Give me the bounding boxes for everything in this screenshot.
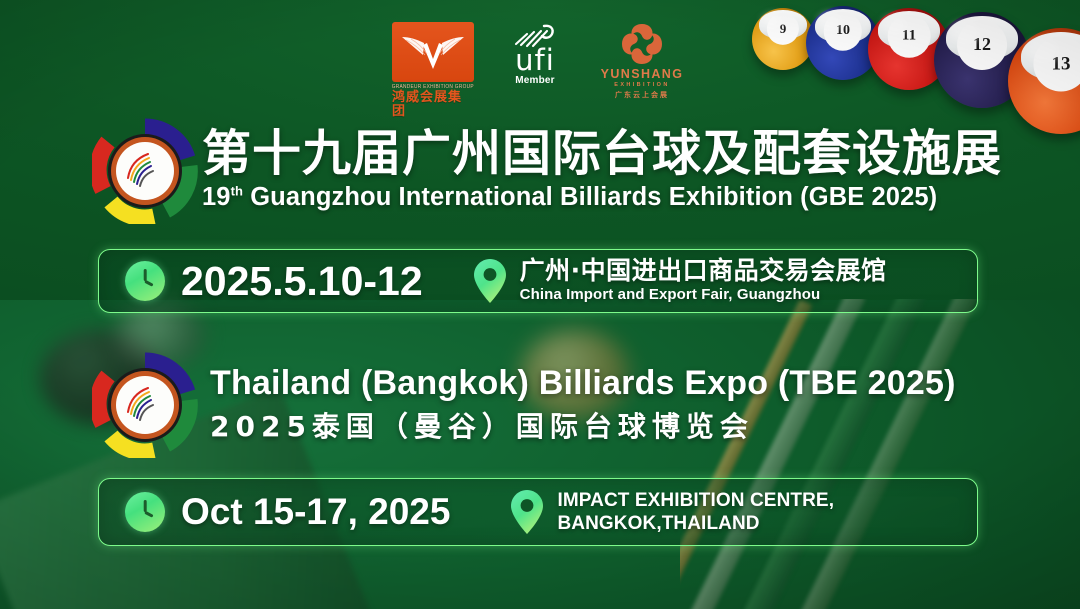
grandeur-english-name: GRANDEUR EXHIBITION GROUP: [392, 84, 474, 90]
event-gbe-2025: 第十九届广州国际台球及配套设施展 19th Guangzhou Internat…: [0, 118, 1080, 224]
billiards-circular-emblem-icon: [92, 118, 198, 224]
sponsor-yunshang-exhibition: YUNSHANG EXHIBITION 广东云上会展: [596, 22, 688, 100]
event-gbe-title-english: 19th Guangzhou International Billiards E…: [202, 182, 1002, 213]
event-gbe-venue-text: 广州·中国进出口商品交易会展馆 China Import and Export …: [520, 257, 887, 304]
grandeur-chinese-name: 鸿威会展集团: [392, 90, 474, 119]
event-gbe-venue-group: 广州·中国进出口商品交易会展馆 China Import and Export …: [455, 257, 887, 304]
sponsor-logo-row: GRANDEUR EXHIBITION GROUP 鸿威会展集团 ufi Mem…: [0, 22, 1080, 112]
event-tbe-title-english: Thailand (Bangkok) Billiards Expo (TBE 2…: [210, 364, 956, 403]
event-gbe-edition-number: 19: [202, 183, 231, 211]
event-gbe-venue-chinese: 广州·中国进出口商品交易会展馆: [520, 257, 887, 285]
ufi-swoosh-icon: [514, 22, 556, 48]
event-tbe-titles: Thailand (Bangkok) Billiards Expo (TBE 2…: [210, 364, 956, 445]
event-tbe-info-bar: Oct 15-17, 2025 IMPACT EXHIBITION CENTRE…: [98, 478, 978, 546]
event-gbe-title-english-rest: Guangzhou International Billiards Exhibi…: [243, 183, 937, 211]
location-pin-icon: [473, 258, 507, 304]
event-tbe-venue-line1: IMPACT EXHIBITION CENTRE,: [557, 490, 834, 512]
billiards-circular-emblem-icon: [92, 352, 198, 458]
event-gbe-info-bar: 2025.5.10-12 广州·中国进出口商品交易会展馆 China Impor…: [98, 249, 978, 313]
clock-icon: [125, 492, 165, 532]
event-tbe-title-chinese: 2025泰国（曼谷）国际台球博览会: [210, 409, 956, 445]
event-gbe-title-chinese: 第十九届广州国际台球及配套设施展: [202, 129, 1002, 180]
sponsor-grandeur-exhibition-group: GRANDEUR EXHIBITION GROUP 鸿威会展集团: [392, 22, 474, 119]
event-tbe-date-group: Oct 15-17, 2025: [99, 491, 450, 533]
event-gbe-date-group: 2025.5.10-12: [99, 258, 423, 305]
event-tbe-venue-line2: BANGKOK,THAILAND: [557, 513, 834, 535]
event-tbe-venue-text: IMPACT EXHIBITION CENTRE, BANGKOK,THAILA…: [557, 489, 834, 536]
location-pin-icon: [510, 489, 544, 535]
event-gbe-date: 2025.5.10-12: [181, 258, 423, 305]
wing-w-logo-icon: [400, 31, 466, 73]
poster-canvas: 9 10 11 12 13: [0, 0, 1080, 609]
ufi-wordmark: ufi: [515, 48, 555, 73]
clock-icon: [125, 261, 165, 301]
pinwheel-logo-icon: [620, 22, 664, 66]
event-gbe-edition-suffix: th: [231, 184, 243, 199]
event-tbe-date: Oct 15-17, 2025: [181, 491, 450, 533]
event-gbe-venue-english: China Import and Export Fair, Guangzhou: [520, 286, 887, 305]
yunshang-english-name: YUNSHANG: [601, 68, 684, 81]
ufi-member-caption: Member: [515, 75, 555, 86]
grandeur-logo-box: [392, 22, 474, 82]
yunshang-chinese-name: 广东云上会展: [615, 90, 669, 100]
event-tbe-venue-group: IMPACT EXHIBITION CENTRE, BANGKOK,THAILA…: [492, 489, 834, 536]
event-gbe-titles: 第十九届广州国际台球及配套设施展 19th Guangzhou Internat…: [202, 129, 1002, 213]
yunshang-subtitle: EXHIBITION: [614, 82, 669, 88]
event-tbe-2025: Thailand (Bangkok) Billiards Expo (TBE 2…: [0, 352, 1080, 458]
sponsor-ufi-member: ufi Member: [502, 22, 568, 86]
